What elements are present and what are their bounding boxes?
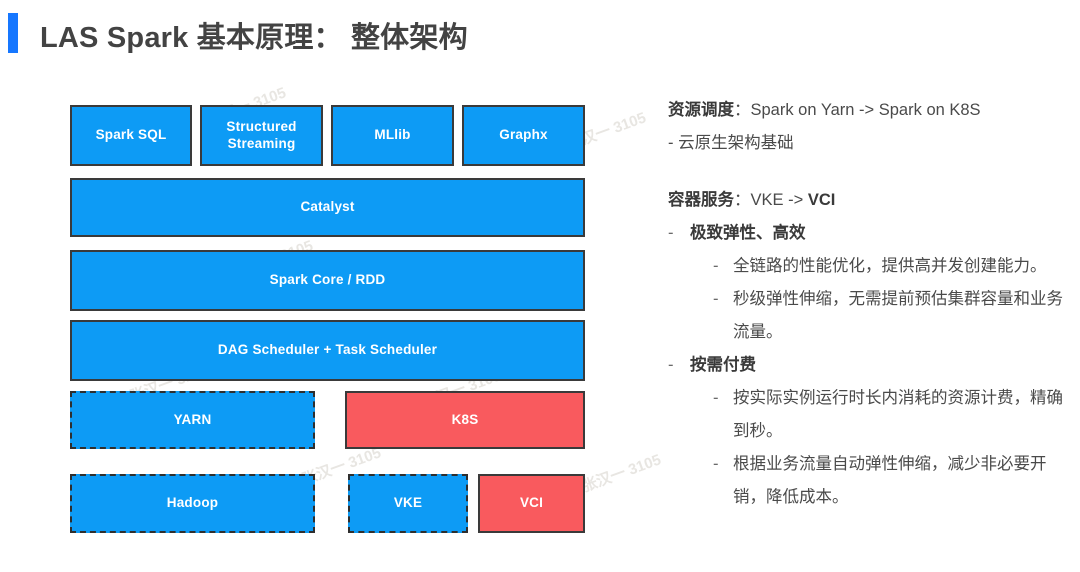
diagram-block-label: Hadoop (167, 495, 218, 512)
bullet-sub-item-label: 全链路的性能优化，提供高并发创建能力。 (733, 257, 1047, 275)
diagram-block-catalyst: Catalyst (70, 178, 585, 237)
diagram-block-label-line1: Hadoop (167, 495, 218, 512)
diagram-block-k8s: K8S (345, 391, 585, 449)
diagram-block-label: YARN (174, 412, 212, 429)
diagram-block-graphx: Graphx (462, 105, 585, 166)
diagram-block-label: Graphx (499, 127, 547, 144)
diagram-block-spark-sql: Spark SQL (70, 105, 192, 166)
container-service-label: 容器服务 (668, 191, 734, 209)
diagram-block-yarn: YARN (70, 391, 315, 449)
bullet-group-title: -按需付费 (668, 349, 1068, 382)
architecture-diagram: Spark SQLStructuredStreamingMLlibGraphxC… (70, 105, 585, 537)
bullet-dash-icon: - (668, 217, 674, 250)
diagram-block-structured: StructuredStreaming (200, 105, 323, 166)
bullet-dash-icon: - (713, 448, 719, 481)
diagram-block-vci: VCI (478, 474, 585, 533)
bullet-dash-icon: - (668, 349, 674, 382)
diagram-block-spark-core-rdd: Spark Core / RDD (70, 250, 585, 311)
diagram-block-label-line1: Structured (226, 119, 296, 136)
bullet-dash-icon: - (713, 283, 719, 316)
bullet-dash-icon: - (713, 250, 719, 283)
diagram-block-label-line1: VCI (520, 495, 543, 512)
panel-spacer (668, 160, 1068, 184)
diagram-block-label-line1: MLlib (374, 127, 410, 144)
bullet-sub-item-label: 秒级弹性伸缩，无需提前预估集群容量和业务流量。 (733, 290, 1063, 341)
scheduling-heading-value: ：Spark on Yarn -> Spark on K8S (734, 101, 981, 119)
diagram-block-vke: VKE (348, 474, 468, 533)
bullet-sub-item: -全链路的性能优化，提供高并发创建能力。 (713, 250, 1068, 283)
bullet-sub-item: -按实际实例运行时长内消耗的资源计费，精确到秒。 (713, 382, 1068, 448)
diagram-block-label: VCI (520, 495, 543, 512)
diagram-block-hadoop: Hadoop (70, 474, 315, 533)
diagram-block-label-line1: Graphx (499, 127, 547, 144)
diagram-block-label-line1: Catalyst (300, 199, 354, 216)
bullet-group-title-label: 按需付费 (690, 356, 756, 374)
diagram-block-label-line1: DAG Scheduler + Task Scheduler (218, 342, 437, 359)
diagram-block-label-line1: Spark Core / RDD (270, 272, 386, 289)
diagram-block-label-line1: VKE (394, 495, 422, 512)
detail-panel: 资源调度：Spark on Yarn -> Spark on K8S - 云原生… (668, 94, 1068, 514)
container-service-heading: 容器服务：VKE -> VCI (668, 184, 1068, 217)
bullet-group-title: -极致弹性、高效 (668, 217, 1068, 250)
bullet-sub-item: -秒级弹性伸缩，无需提前预估集群容量和业务流量。 (713, 283, 1068, 349)
scheduling-heading: 资源调度：Spark on Yarn -> Spark on K8S (668, 94, 1068, 127)
scheduling-subline: - 云原生架构基础 (668, 127, 1068, 160)
diagram-block-label-line1: YARN (174, 412, 212, 429)
diagram-block-label: VKE (394, 495, 422, 512)
bullet-sub-item-label: 根据业务流量自动弹性伸缩，减少非必要开销，降低成本。 (733, 455, 1047, 506)
diagram-block-mllib: MLlib (331, 105, 454, 166)
diagram-block-label: Spark SQL (96, 127, 167, 144)
scheduling-heading-label: 资源调度 (668, 101, 734, 119)
diagram-block-label-line2: Streaming (226, 136, 296, 153)
container-service-target: VCI (808, 191, 836, 209)
diagram-block-label: MLlib (374, 127, 410, 144)
diagram-block-label-line1: K8S (452, 412, 479, 429)
bullet-dash-icon: - (713, 382, 719, 415)
bullet-groups: -极致弹性、高效-全链路的性能优化，提供高并发创建能力。-秒级弹性伸缩，无需提前… (668, 217, 1068, 514)
diagram-block-label: Catalyst (300, 199, 354, 216)
diagram-block-dag-scheduler-task-scheduler: DAG Scheduler + Task Scheduler (70, 320, 585, 381)
diagram-block-label: Spark Core / RDD (270, 272, 386, 289)
bullet-sub-item-label: 按实际实例运行时长内消耗的资源计费，精确到秒。 (733, 389, 1063, 440)
title-accent-bar (8, 13, 18, 53)
bullet-group-title-label: 极致弹性、高效 (690, 224, 806, 242)
diagram-block-label: DAG Scheduler + Task Scheduler (218, 342, 437, 359)
diagram-block-label-line1: Spark SQL (96, 127, 167, 144)
bullet-sub-item: -根据业务流量自动弹性伸缩，减少非必要开销，降低成本。 (713, 448, 1068, 514)
container-service-mid: ：VKE -> (734, 191, 808, 209)
slide-header: LAS Spark 基本原理： 整体架构 (0, 0, 1080, 78)
diagram-block-label: K8S (452, 412, 479, 429)
page-title: LAS Spark 基本原理： 整体架构 (40, 14, 468, 56)
watermark-text: 张汉一 3105 (579, 449, 664, 497)
diagram-block-label: StructuredStreaming (226, 119, 296, 153)
